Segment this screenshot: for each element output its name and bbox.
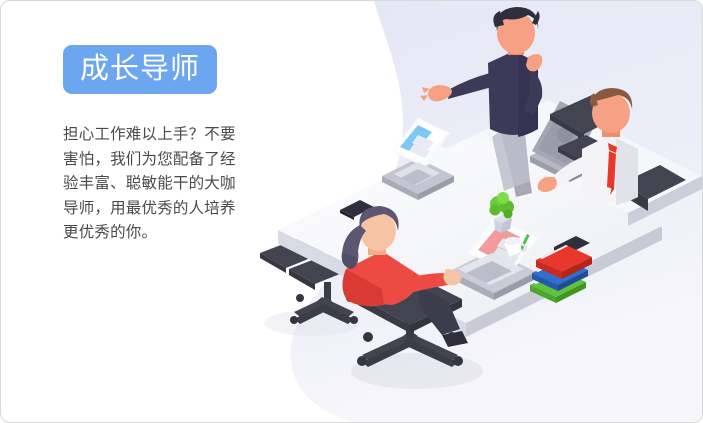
office-illustration: [242, 1, 702, 423]
section-description: 担心工作难以上手？不要害怕，我们为您配备了经验丰富、聪敏能干的大咖导师，用最优秀…: [63, 122, 239, 245]
promo-banner: 成长导师 担心工作难以上手？不要害怕，我们为您配备了经验丰富、聪敏能干的大咖导师…: [0, 0, 703, 423]
text-column: 成长导师 担心工作难以上手？不要害怕，我们为您配备了经验丰富、聪敏能干的大咖导师…: [63, 45, 263, 260]
section-badge: 成长导师: [63, 45, 217, 94]
